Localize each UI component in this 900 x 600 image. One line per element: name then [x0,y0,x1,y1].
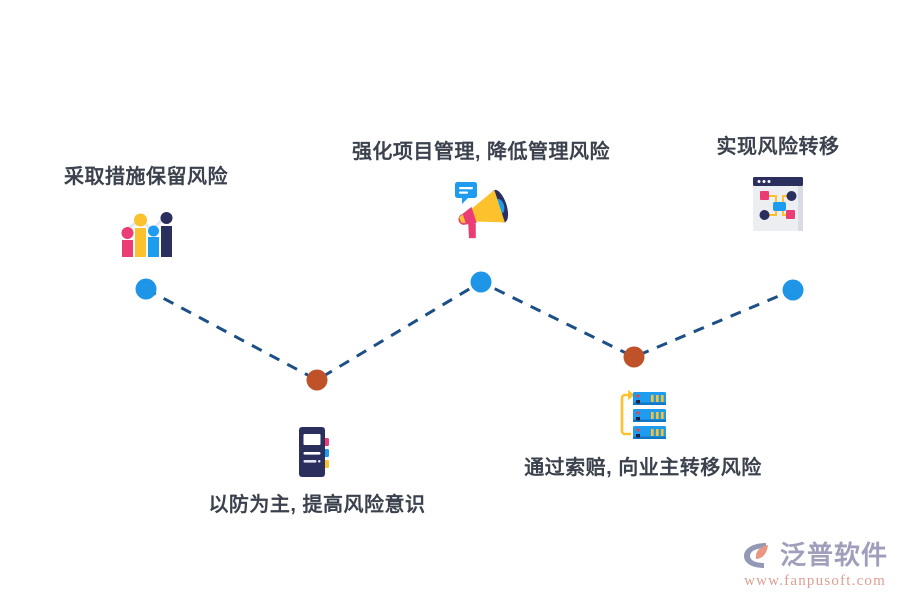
node-marker-4[interactable] [624,347,645,368]
step-label-strengthen-management: 强化项目管理, 降低管理风险 [352,141,610,163]
step-label-transfer-via-claim: 通过索赔, 向业主转移风险 [524,457,762,479]
server-icon [611,383,675,447]
node-marker-5[interactable] [783,280,804,301]
watermark-url: www.fanpusoft.com [744,573,886,590]
notebook-icon [285,420,349,484]
node-marker-3[interactable] [471,272,492,293]
step-label-prevention-awareness: 以防为主, 提高风险意识 [208,494,425,516]
step-prevention-awareness[interactable]: 以防为主, 提高风险意识 [152,420,482,516]
bar-chart-icon [114,202,178,266]
watermark: 泛普软件 www.fanpusoft.com [742,540,888,590]
step-strengthen-management[interactable]: 强化项目管理, 降低管理风险 [316,141,646,241]
step-label-retain-risk: 采取措施保留风险 [64,166,228,188]
step-achieve-transfer[interactable]: 实现风险转移 [658,136,898,236]
flow-window-icon [746,172,810,236]
step-transfer-via-claim[interactable]: 通过索赔, 向业主转移风险 [478,383,808,479]
node-marker-2[interactable] [307,370,328,391]
fanpu-swoosh-logo-icon [742,540,776,570]
megaphone-icon [449,177,513,241]
step-label-achieve-transfer: 实现风险转移 [717,136,840,158]
step-retain-risk[interactable]: 采取措施保留风险 [26,166,266,266]
zigzag-dashed-line [146,282,793,380]
infographic-canvas: 采取措施保留风险 以防为主, 提高风险意识 [0,0,900,600]
watermark-brand-text: 泛普软件 [780,542,888,568]
node-marker-1[interactable] [136,279,157,300]
watermark-brand-row: 泛普软件 [742,540,888,570]
